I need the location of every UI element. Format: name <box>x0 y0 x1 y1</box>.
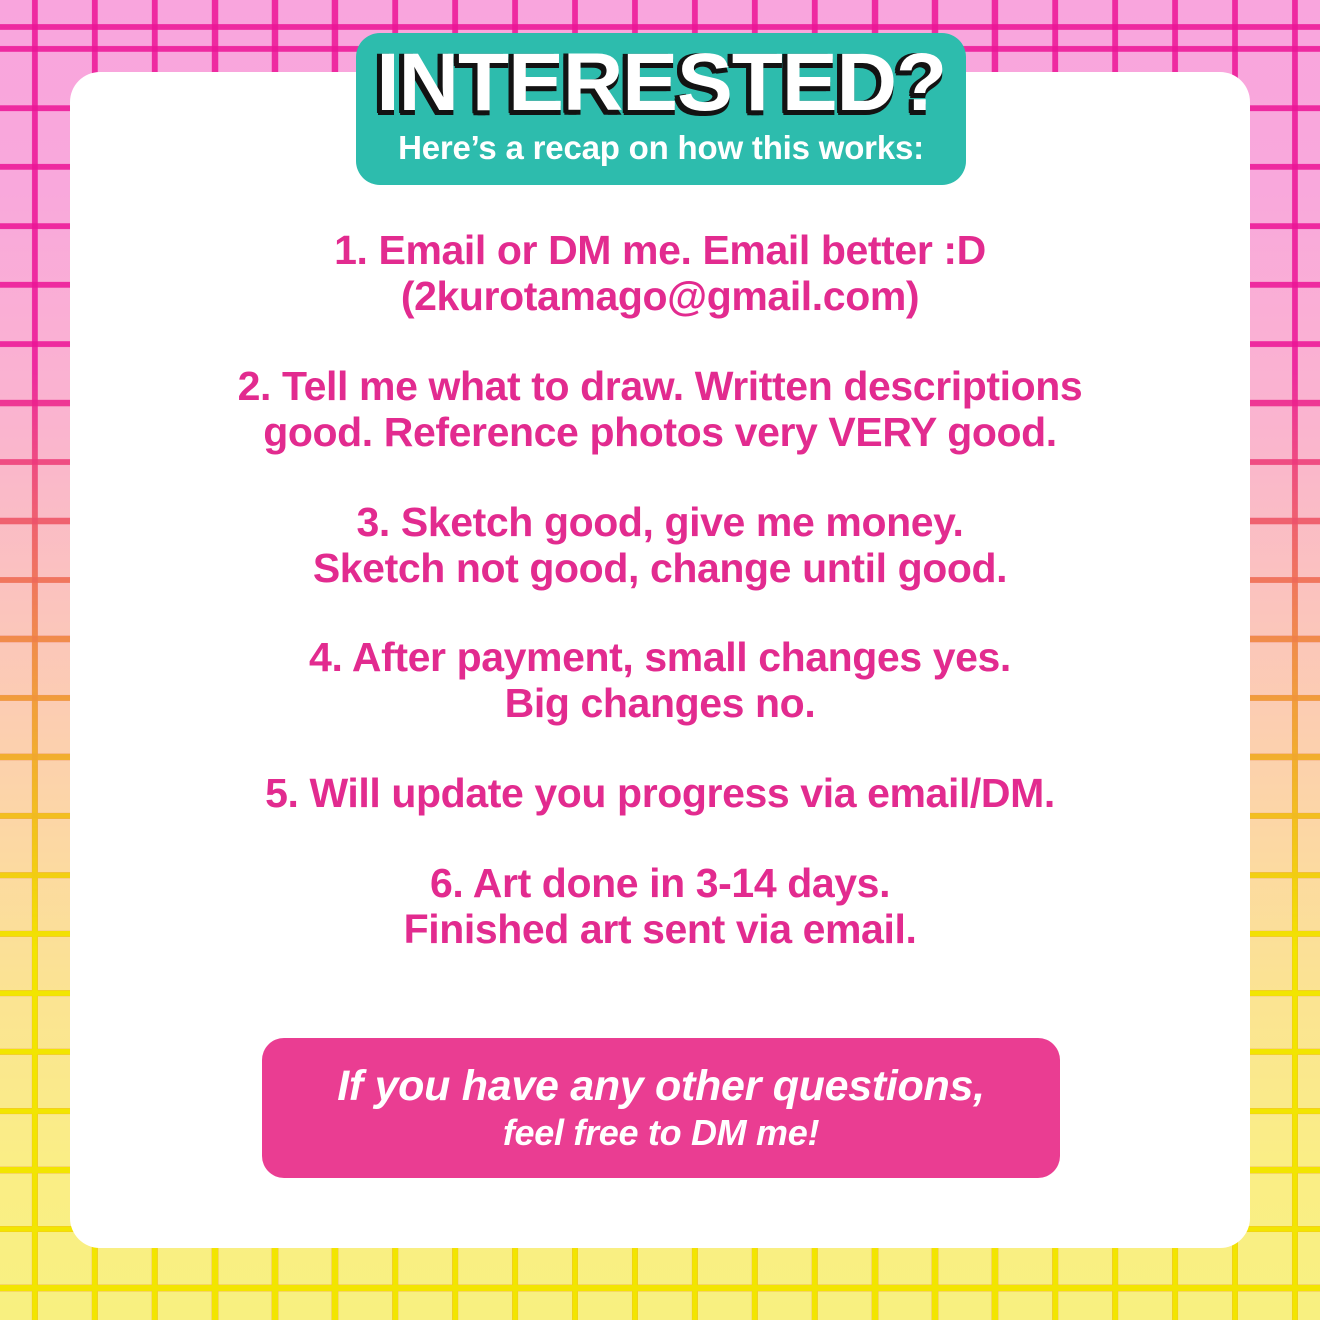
footer-line-primary: If you have any other questions, <box>337 1063 984 1109</box>
step-item-6: 6. Art done in 3-14 days. Finished art s… <box>130 861 1190 953</box>
page-title: INTERESTED? <box>376 41 946 125</box>
page-subtitle: Here’s a recap on how this works: <box>398 131 924 166</box>
footer-banner: If you have any other questions, feel fr… <box>262 1038 1060 1178</box>
step-item-4: 4. After payment, small changes yes. Big… <box>130 635 1190 727</box>
header-badge: INTERESTED? Here’s a recap on how this w… <box>356 33 966 185</box>
step-item-3: 3. Sketch good, give me money. Sketch no… <box>130 500 1190 592</box>
poster-canvas: INTERESTED? Here’s a recap on how this w… <box>0 0 1320 1320</box>
step-item-5: 5. Will update you progress via email/DM… <box>130 771 1190 817</box>
footer-line-secondary: feel free to DM me! <box>503 1113 819 1153</box>
step-item-1: 1. Email or DM me. Email better :D (2kur… <box>130 228 1190 320</box>
step-item-2: 2. Tell me what to draw. Written descrip… <box>130 364 1190 456</box>
steps-list: 1. Email or DM me. Email better :D (2kur… <box>130 228 1190 953</box>
